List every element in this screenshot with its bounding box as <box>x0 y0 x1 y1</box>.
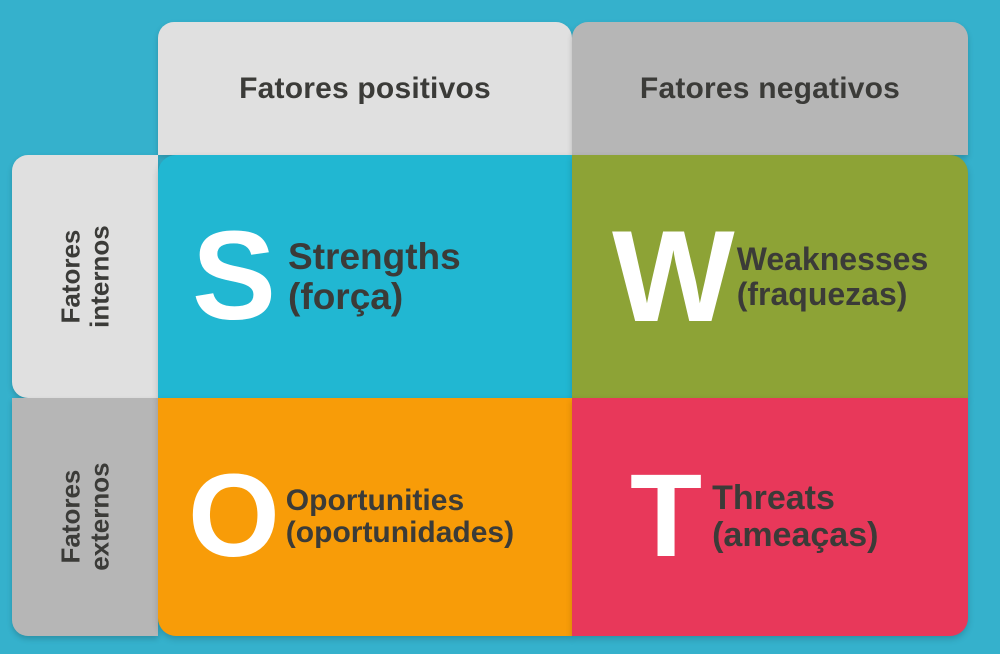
quadrant-strengths-letter: S <box>192 222 276 330</box>
row-header-external-line1: Fatores <box>55 470 85 564</box>
row-header-internal-line2: internos <box>84 225 114 328</box>
quadrant-strengths: S Strengths (força) <box>158 155 572 398</box>
row-header-internal-label: Fatores internos <box>56 225 113 328</box>
column-header-negative-factors: Fatores negativos <box>572 22 968 155</box>
swot-matrix-diagram: Fatores positivos Fatores negativos Fato… <box>0 0 1000 654</box>
quadrant-threats: T Threats (ameaças) <box>572 398 968 636</box>
quadrant-weaknesses: W Weaknesses (fraquezas) <box>572 155 968 398</box>
row-header-internal-factors: Fatores internos <box>12 155 158 398</box>
column-header-positive-label: Fatores positivos <box>239 72 491 106</box>
quadrant-threats-label: Threats (ameaças) <box>712 480 878 553</box>
quadrant-opportunities-line1: Oportunities <box>286 485 514 517</box>
quadrant-weaknesses-line1: Weaknesses <box>737 242 929 277</box>
row-header-external-factors: Fatores externos <box>12 398 158 636</box>
quadrant-weaknesses-label: Weaknesses (fraquezas) <box>737 242 929 311</box>
column-header-positive-factors: Fatores positivos <box>158 22 572 155</box>
row-header-internal-line1: Fatores <box>55 230 85 324</box>
quadrant-opportunities-letter: O <box>188 466 280 567</box>
quadrant-threats-letter: T <box>630 466 702 567</box>
quadrant-opportunities: O Oportunities (oportunidades) <box>158 398 572 636</box>
row-header-external-line2: externos <box>84 463 114 571</box>
quadrant-weaknesses-letter: W <box>612 221 735 333</box>
quadrant-opportunities-label: Oportunities (oportunidades) <box>286 485 514 550</box>
quadrant-strengths-label: Strengths (força) <box>288 237 461 317</box>
quadrant-opportunities-line2: (oportunidades) <box>286 517 514 549</box>
quadrant-strengths-line2: (força) <box>288 277 461 317</box>
quadrant-threats-line1: Threats <box>712 480 878 517</box>
quadrant-weaknesses-line2: (fraquezas) <box>737 277 929 312</box>
quadrant-threats-line2: (ameaças) <box>712 517 878 554</box>
column-header-negative-label: Fatores negativos <box>640 72 900 106</box>
quadrant-strengths-line1: Strengths <box>288 237 461 277</box>
row-header-external-label: Fatores externos <box>56 463 113 571</box>
